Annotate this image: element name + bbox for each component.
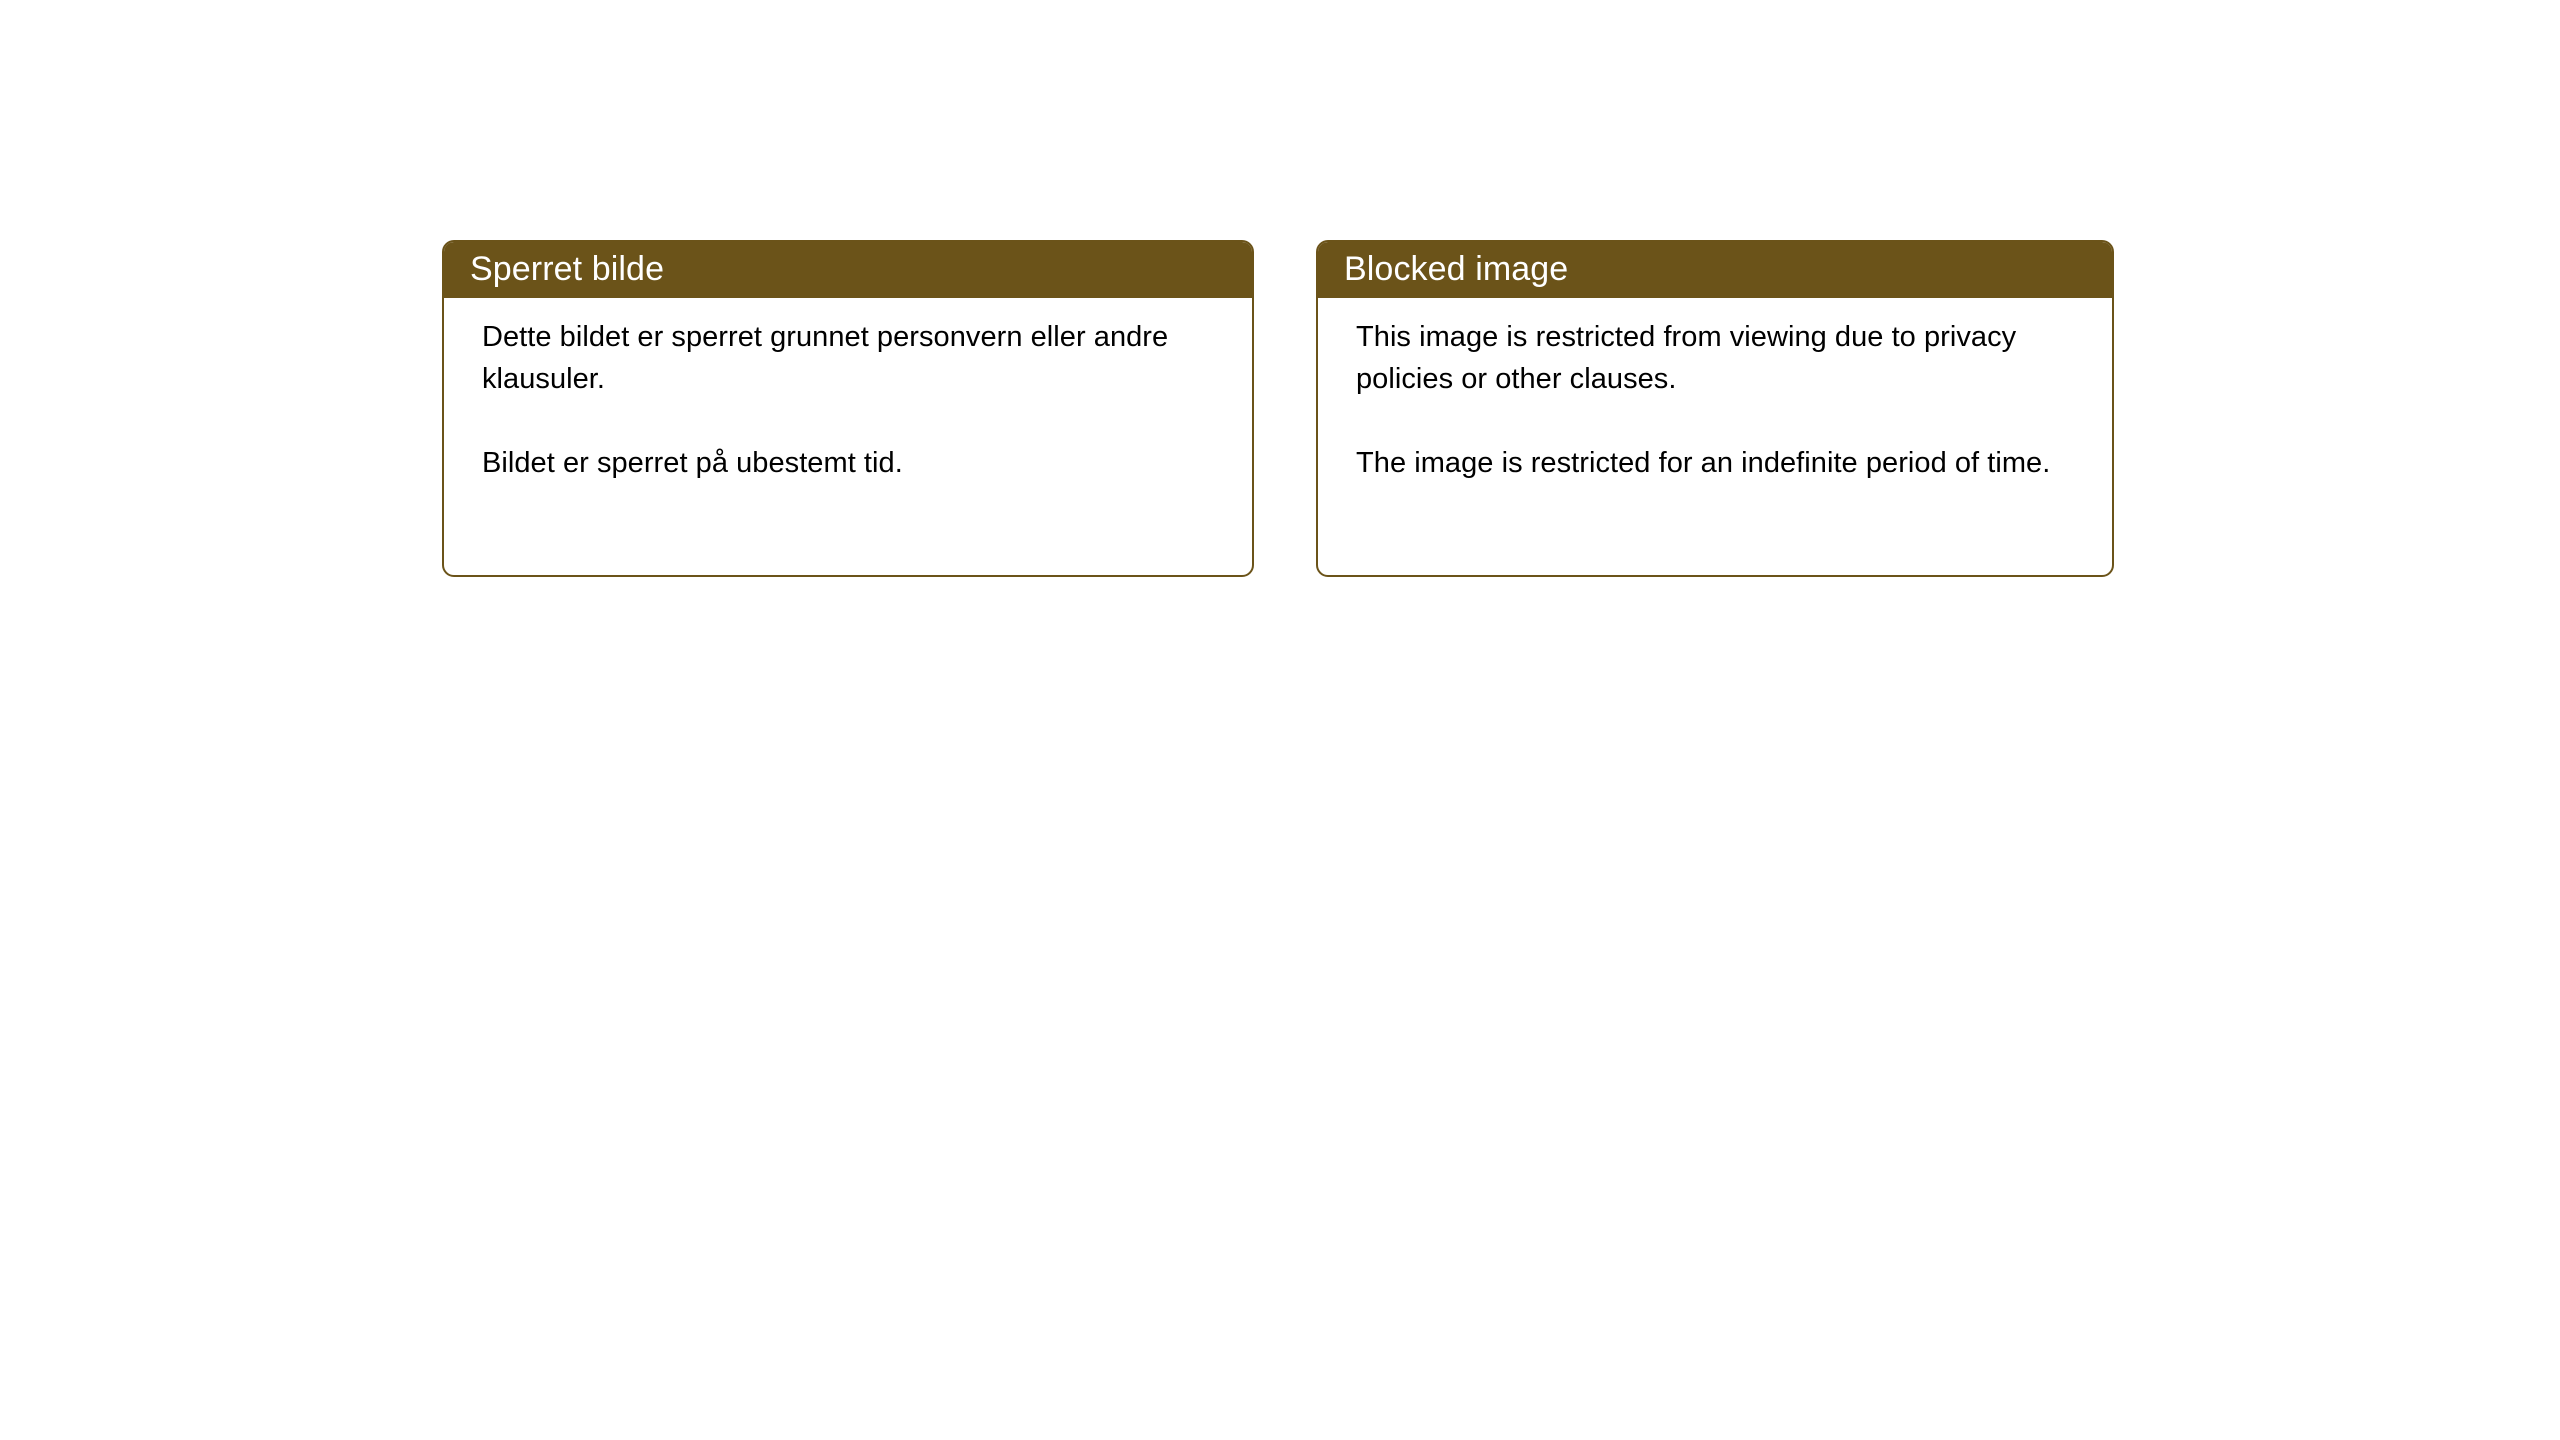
card-title-norwegian: Sperret bilde [470, 250, 664, 288]
card-paragraph-reason-english: This image is restricted from viewing du… [1356, 316, 2056, 400]
card-header-norwegian: Sperret bilde [442, 240, 1254, 298]
card-body-english: This image is restricted from viewing du… [1318, 298, 2112, 484]
card-body-norwegian: Dette bildet er sperret grunnet personve… [444, 298, 1252, 484]
card-paragraph-duration-english: The image is restricted for an indefinit… [1356, 442, 2056, 484]
blocked-image-card-english: Blocked image This image is restricted f… [1316, 240, 2114, 577]
card-paragraph-reason-norwegian: Dette bildet er sperret grunnet personve… [482, 316, 1182, 400]
card-title-english: Blocked image [1344, 250, 1568, 288]
card-header-english: Blocked image [1316, 240, 2114, 298]
blocked-image-notice-area: Sperret bilde Dette bildet er sperret gr… [0, 0, 2560, 1440]
card-paragraph-duration-norwegian: Bildet er sperret på ubestemt tid. [482, 442, 1182, 484]
blocked-image-card-norwegian: Sperret bilde Dette bildet er sperret gr… [442, 240, 1254, 577]
